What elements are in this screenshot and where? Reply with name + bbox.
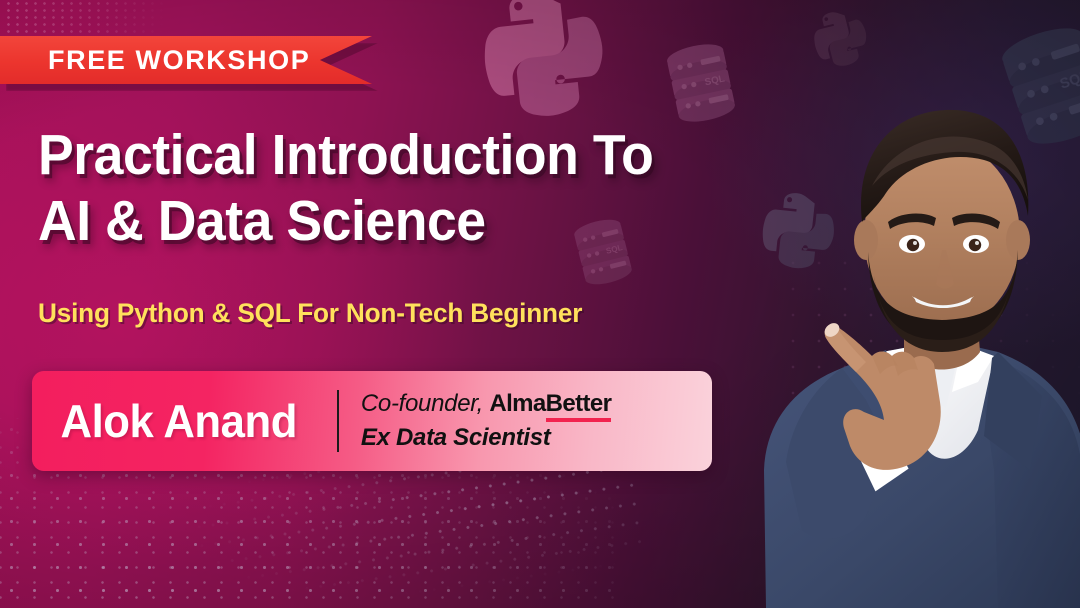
page-title: Practical Introduction To AI & Data Scie… [38,122,738,254]
ribbon-body: FREE WORKSHOP [0,36,372,84]
speaker-bar: Alok Anand Co-founder, AlmaBetter Ex Dat… [32,371,712,471]
subtitle: Using Python & SQL For Non-Tech Beginner [38,298,582,329]
speaker-role-prefix: Co-founder, [361,390,489,417]
webinar-promo-banner: SQL SQL [0,0,1080,608]
free-workshop-ribbon: FREE WORKSHOP [0,36,372,84]
speaker-photo [646,0,1080,608]
speaker-name: Alok Anand [32,394,297,448]
speaker-former-role: Ex Data Scientist [361,424,612,452]
title-line-1: Practical Introduction To [38,122,696,188]
brand-name-alma: Alma [489,390,545,417]
brand-name-better: Better [546,390,612,422]
speaker-credentials: Co-founder, AlmaBetter Ex Data Scientist [361,390,612,452]
speaker-divider [337,390,339,452]
speaker-role-line: Co-founder, AlmaBetter [361,390,612,418]
ribbon-label: FREE WORKSHOP [0,45,310,76]
title-line-2: AI & Data Science [38,188,696,254]
